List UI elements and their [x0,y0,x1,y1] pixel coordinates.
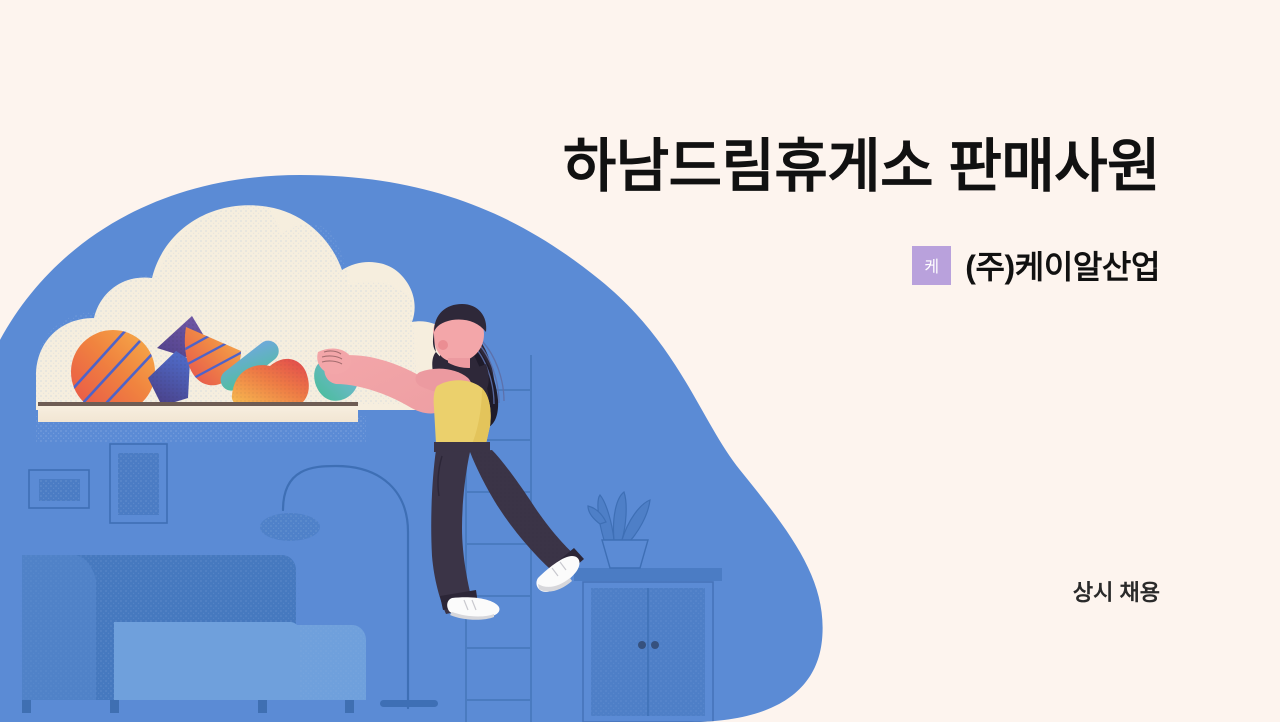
cabinet [574,568,722,722]
company-logo-badge: 케 [912,246,951,285]
shelf-board [38,402,358,422]
illustration-artwork [0,0,1280,722]
job-posting-banner: 하남드림휴게소 판매사원 케 (주)케이알산업 상시 채용 [0,0,1280,722]
page-title: 하남드림휴게소 판매사원 [180,133,1160,201]
wall-picture-frame-large [110,444,167,523]
company-row[interactable]: 케 (주)케이알산업 [912,242,1160,288]
company-name[interactable]: (주)케이알산업 [965,242,1160,288]
status-badge: 상시 채용 [1073,575,1160,607]
